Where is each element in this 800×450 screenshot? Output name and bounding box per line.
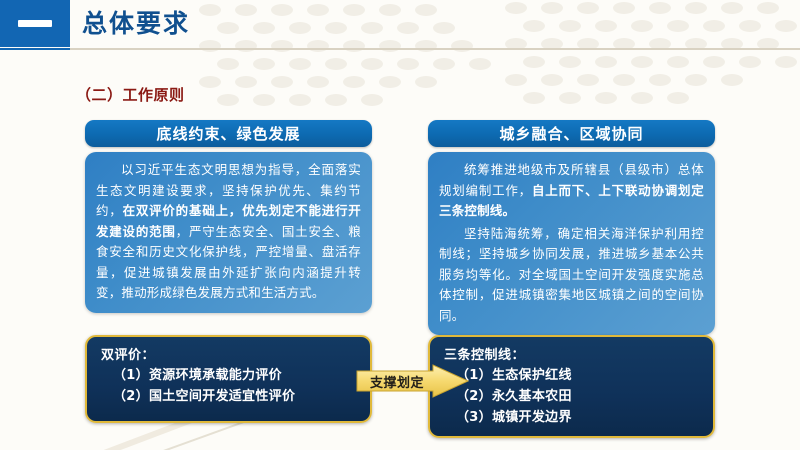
slide-canvas: 总体要求 （二）工作原则 底线约束、绿色发展 以习近平生态文明思想为指导，全面落… [0, 0, 800, 450]
card-body-left: 以习近平生态文明思想为指导，全面落实生态文明建设要求，坚持保护优先、集约节约，在… [85, 152, 372, 313]
support-arrow: 支撑划定 [355, 364, 470, 398]
paragraph: 坚持陆海统筹，确定相关海洋保护利用控制线；坚持城乡协同发展，推进城乡基本公共服务… [439, 224, 704, 327]
page-title: 总体要求 [82, 6, 190, 42]
list-item: （1）资源环境承载能力评价 [101, 365, 360, 386]
section-subtitle: （二）工作原则 [76, 84, 185, 105]
summary-box-left: 双评价： （1）资源环境承载能力评价（2）国土空间开发适宜性评价 [85, 335, 372, 423]
summary-box-right-items: （1）生态保护红线（2）永久基本农田（3）城镇开发边界 [444, 365, 703, 428]
card-title-left: 底线约束、绿色发展 [85, 120, 372, 147]
summary-box-left-title: 双评价： [101, 344, 360, 363]
summary-box-right: 三条控制线： （1）生态保护红线（2）永久基本农田（3）城镇开发边界 [428, 335, 715, 438]
paragraph: 统筹推进地级市及所辖县（县级市）总体规划编制工作，自上而下、上下联动协调划定三条… [439, 160, 704, 222]
card-title-right: 城乡融合、区域协同 [428, 120, 715, 147]
column-right: 城乡融合、区域协同 统筹推进地级市及所辖县（县级市）总体规划编制工作，自上而下、… [428, 120, 715, 335]
paragraph: 以习近平生态文明思想为指导，全面落实生态文明建设要求，坚持保护优先、集约节约，在… [96, 160, 361, 304]
summary-box-right-title: 三条控制线： [444, 344, 703, 363]
support-arrow-label: 支撑划定 [361, 372, 433, 391]
card-body-right: 统筹推进地级市及所辖县（县级市）总体规划编制工作，自上而下、上下联动协调划定三条… [428, 152, 715, 335]
header-number-block [0, 0, 70, 47]
header-divider [0, 48, 800, 50]
list-item: （3）城镇开发边界 [444, 407, 703, 428]
slide-header: 总体要求 [0, 0, 800, 48]
one-dash-icon [18, 20, 52, 27]
list-item: （1）生态保护红线 [444, 365, 703, 386]
body-text: 坚持陆海统筹，确定相关海洋保护利用控制线；坚持城乡协同发展，推进城乡基本公共服务… [439, 226, 704, 323]
summary-box-left-items: （1）资源环境承载能力评价（2）国土空间开发适宜性评价 [101, 365, 360, 407]
column-left: 底线约束、绿色发展 以习近平生态文明思想为指导，全面落实生态文明建设要求，坚持保… [85, 120, 372, 313]
list-item: （2）永久基本农田 [444, 386, 703, 407]
list-item: （2）国土空间开发适宜性评价 [101, 386, 360, 407]
